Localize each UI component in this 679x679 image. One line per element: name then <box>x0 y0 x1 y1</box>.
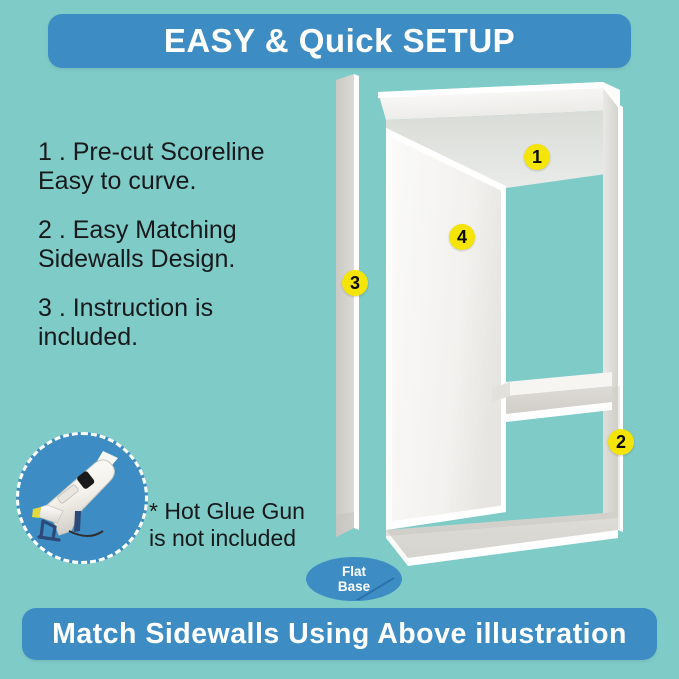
callout-badge-2: 2 <box>608 429 634 455</box>
callout-badge-4: 4 <box>449 224 475 250</box>
left-sidewall <box>336 74 359 537</box>
back-panel <box>386 128 506 530</box>
feature-item-3: 3 . Instruction is included. <box>38 294 338 351</box>
callout-badge-3: 3 <box>342 270 368 296</box>
footer-banner: Match Sidewalls Using Above illustration <box>22 608 657 660</box>
glue-gun-note: * Hot Glue Gun is not included <box>149 498 339 551</box>
infographic-poster: EASY & Quick SETUP 1 . Pre-cut Scoreline… <box>0 0 679 679</box>
right-sidewall <box>603 88 623 532</box>
glue-gun-icon <box>19 435 151 567</box>
product-illustration <box>320 60 670 600</box>
callout-badge-1: 1 <box>524 144 550 170</box>
glue-gun-badge <box>16 432 148 564</box>
feature-item-1: 1 . Pre-cut Scoreline Easy to curve. <box>38 138 338 195</box>
flat-base-pointer-line <box>320 578 394 600</box>
feature-item-2: 2 . Easy Matching Sidewalls Design. <box>38 216 338 273</box>
feature-list: 1 . Pre-cut Scoreline Easy to curve. 2 .… <box>38 138 338 372</box>
middle-shelf <box>492 372 612 422</box>
